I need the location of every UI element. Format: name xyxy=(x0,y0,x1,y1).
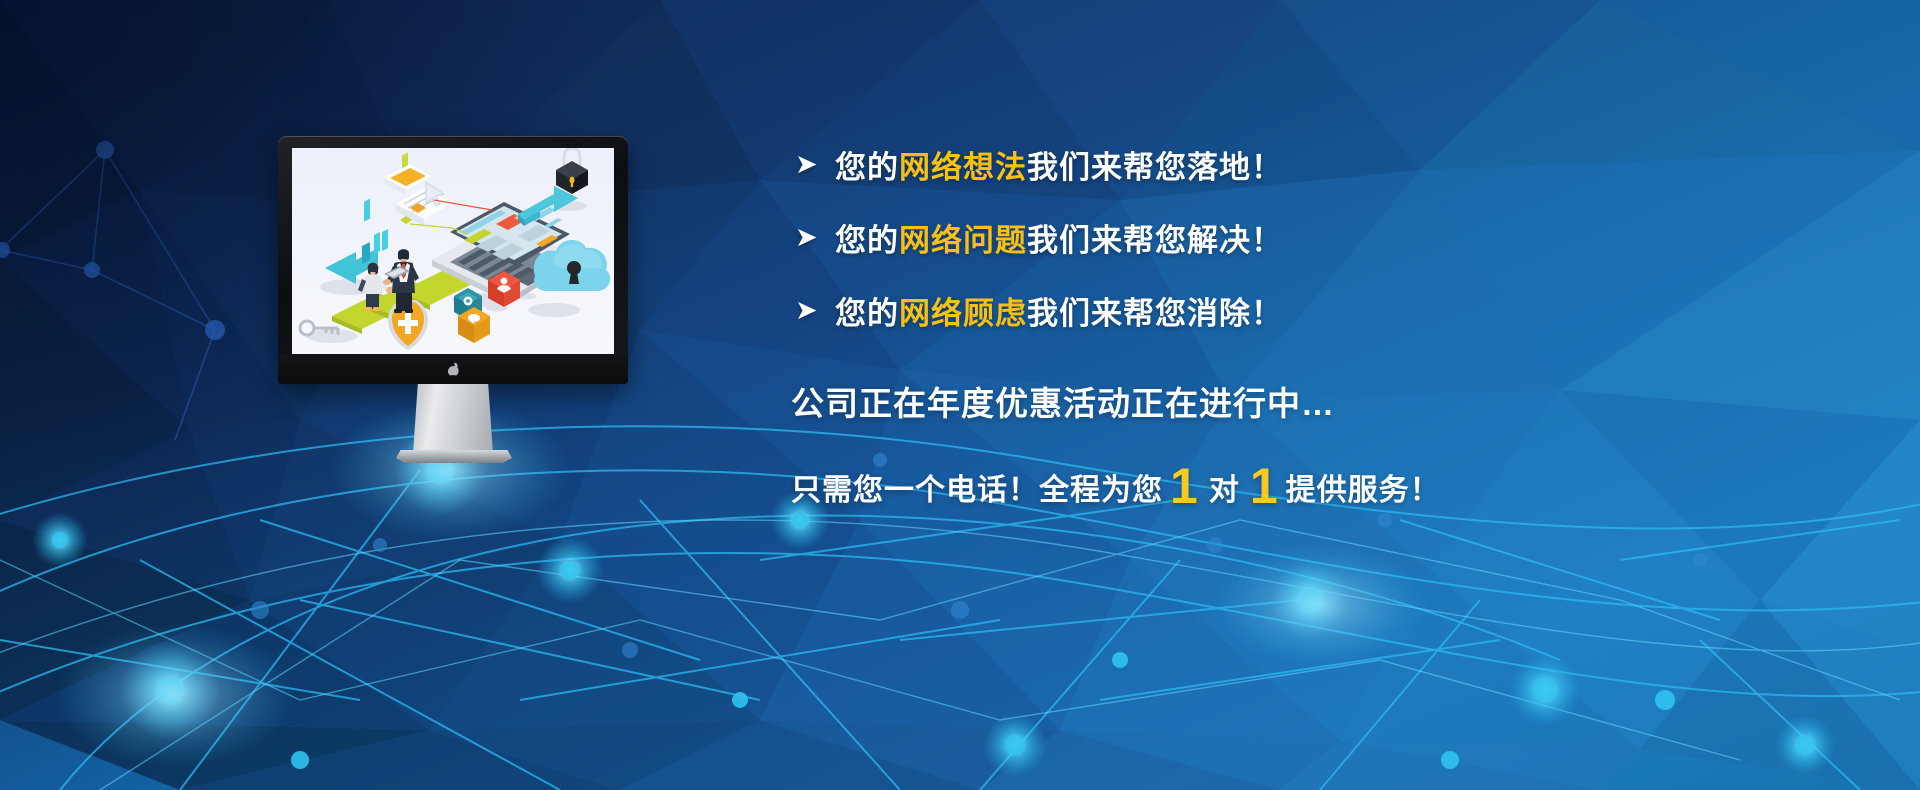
cta-number-first: 1 xyxy=(1163,461,1206,511)
cta-tail-text: 提供服务！ xyxy=(1286,465,1441,509)
bullet-suffix-3: 我们来帮您消除！ xyxy=(1027,296,1283,331)
monitor-bezel xyxy=(278,136,628,384)
monitor-stand-neck xyxy=(413,384,493,454)
call-to-action-line: 只需您一个电话！全程为您 1 对 1 提供服务！ xyxy=(791,458,1555,509)
arrow-bullet-icon: ➤ xyxy=(795,151,835,178)
monitor-chin xyxy=(278,354,628,384)
bullet-highlight-3: 网络顾虑 xyxy=(899,296,1027,331)
cta-number-second: 1 xyxy=(1243,461,1286,511)
bullet-line-2: ➤ 您的网络问题我们来帮您解决！ xyxy=(795,201,1555,274)
bullet-prefix-1: 您的 xyxy=(835,150,899,185)
bullet-text-1: 您的网络想法我们来帮您落地！ xyxy=(835,142,1283,187)
promo-banner: ➤ 您的网络想法我们来帮您落地！ ➤ 您的网络问题我们来帮您解决！ ➤ 您的网络… xyxy=(0,0,1920,790)
imac-display xyxy=(278,136,628,448)
monitor-stand-base xyxy=(396,450,512,463)
bullet-highlight-1: 网络想法 xyxy=(899,150,1027,185)
bullet-prefix-2: 您的 xyxy=(835,223,899,258)
bullet-text-2: 您的网络问题我们来帮您解决！ xyxy=(835,215,1283,260)
marketing-copy: ➤ 您的网络想法我们来帮您落地！ ➤ 您的网络问题我们来帮您解决！ ➤ 您的网络… xyxy=(795,128,1555,509)
cta-mid-text: 对 xyxy=(1206,465,1243,509)
bullet-line-3: ➤ 您的网络顾虑我们来帮您消除！ xyxy=(795,274,1555,347)
monitor-screen xyxy=(292,148,614,354)
bullet-line-1: ➤ 您的网络想法我们来帮您落地！ xyxy=(795,128,1555,201)
isometric-security-illustration xyxy=(292,148,614,354)
bullet-suffix-1: 我们来帮您落地！ xyxy=(1027,150,1283,185)
cta-lead-text: 只需您一个电话！全程为您 xyxy=(791,465,1163,509)
bullet-prefix-3: 您的 xyxy=(835,296,899,331)
apple-logo-icon xyxy=(448,363,459,376)
arrow-bullet-icon: ➤ xyxy=(795,224,835,251)
bullet-text-3: 您的网络顾虑我们来帮您消除！ xyxy=(835,288,1283,333)
bullet-suffix-2: 我们来帮您解决！ xyxy=(1027,223,1283,258)
promo-tagline: 公司正在年度优惠活动正在进行中… xyxy=(791,377,1555,425)
bullet-highlight-2: 网络问题 xyxy=(899,223,1027,258)
arrow-bullet-icon: ➤ xyxy=(795,297,835,324)
